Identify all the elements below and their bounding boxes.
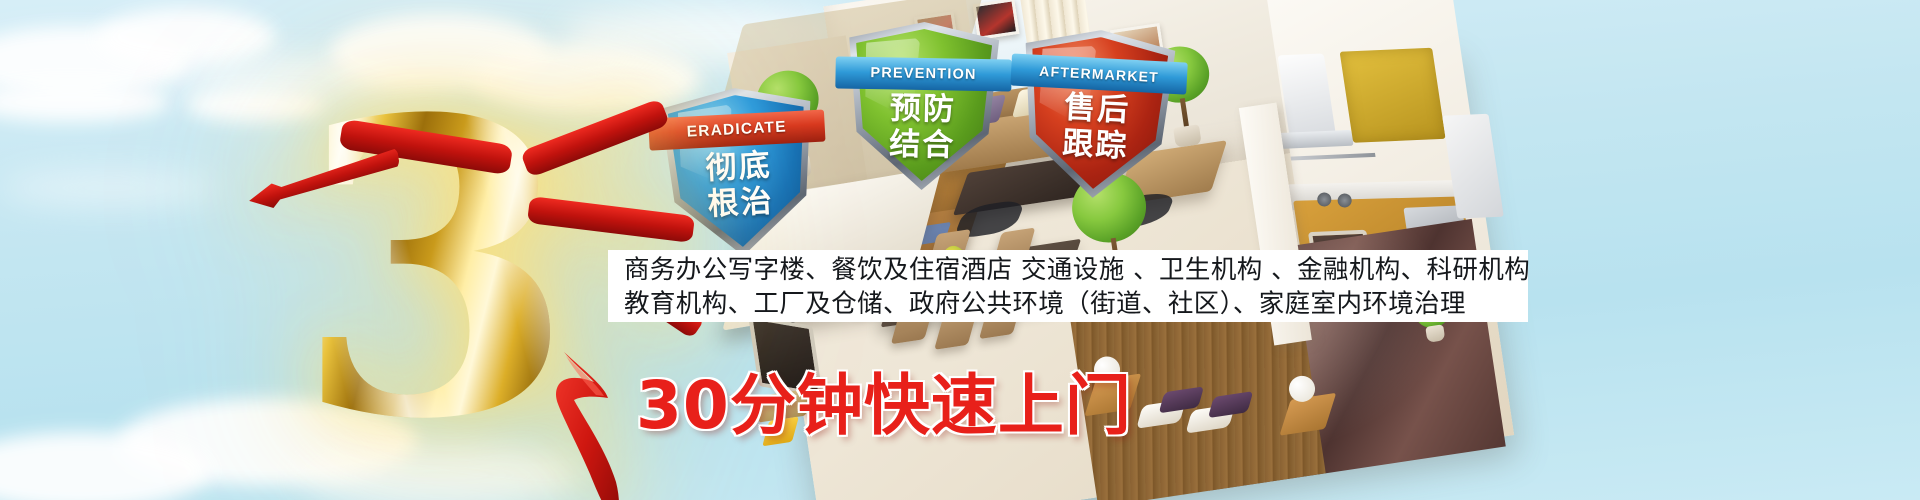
golden-number-three: 3 3 [252,96,612,456]
shield-ribbon-band: PREVENTION [835,56,1012,91]
service-scope-line-1: 商务办公写字楼、餐饮及住宿酒店 交通设施 、卫生机构 、金融机构、科研机构 [608,250,1528,287]
service-scope-panel: 商务办公写字楼、餐饮及住宿酒店 交通设施 、卫生机构 、金融机构、科研机构 教育… [608,250,1528,322]
shield-chinese-line-2: 跟踪 [1020,124,1172,165]
service-scope-line-2: 教育机构、工厂及仓储、政府公共环境（街道、社区）、家庭室内环境治理 [608,287,1528,321]
shield-chinese-line-1: 预防 [848,91,999,127]
cloud-icon [0,170,220,206]
promo-banner: ERADICATE 彻底 根治 PREVENTION 预防 结合 AFTERMA… [0,0,1920,500]
kitchen-upper-cabinet [1340,48,1446,143]
shield-badge-aftermarket[interactable]: AFTERMARKET 售后 跟踪 [1018,26,1177,202]
page-title: 30分钟快速上门 [636,352,1132,448]
shield-chinese-line-2: 结合 [847,127,998,163]
cloud-icon [0,82,170,122]
shield-badge-prevention[interactable]: PREVENTION 预防 结合 [847,21,1000,192]
